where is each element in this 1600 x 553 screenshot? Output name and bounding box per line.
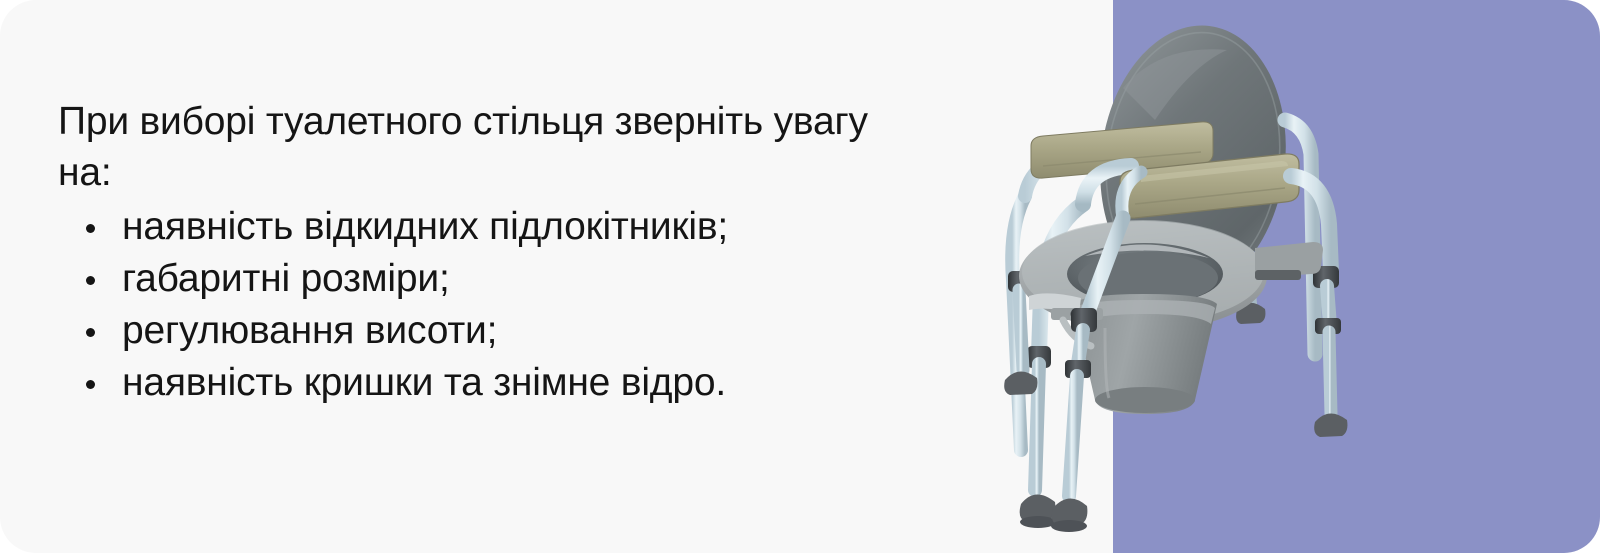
- list-item-label: наявність відкидних підлокітників;: [122, 205, 728, 248]
- list-item-label: регулювання висоти;: [122, 309, 497, 352]
- info-card: При виборі туалетного стільця зверніть у…: [0, 0, 1600, 553]
- list-item: наявність відкидних підлокітників;: [58, 201, 958, 253]
- list-item: наявність кришки та знімне відро.: [58, 357, 958, 409]
- list-item: габаритні розміри;: [58, 253, 958, 305]
- list-item: регулювання висоти;: [58, 305, 958, 357]
- list-item-label: габаритні розміри;: [122, 257, 450, 300]
- bullet-icon: [86, 328, 95, 337]
- bullet-icon: [86, 380, 95, 389]
- bullet-icon: [86, 224, 95, 233]
- commode-chair-image: [955, 8, 1375, 553]
- list-item-label: наявність кришки та знімне відро.: [122, 361, 726, 404]
- lead-paragraph: При виборі туалетного стільця зверніть у…: [58, 96, 898, 199]
- text-column: При виборі туалетного стільця зверніть у…: [58, 96, 958, 408]
- feature-list: наявність відкидних підлокітників; габар…: [58, 201, 958, 408]
- bullet-icon: [86, 276, 95, 285]
